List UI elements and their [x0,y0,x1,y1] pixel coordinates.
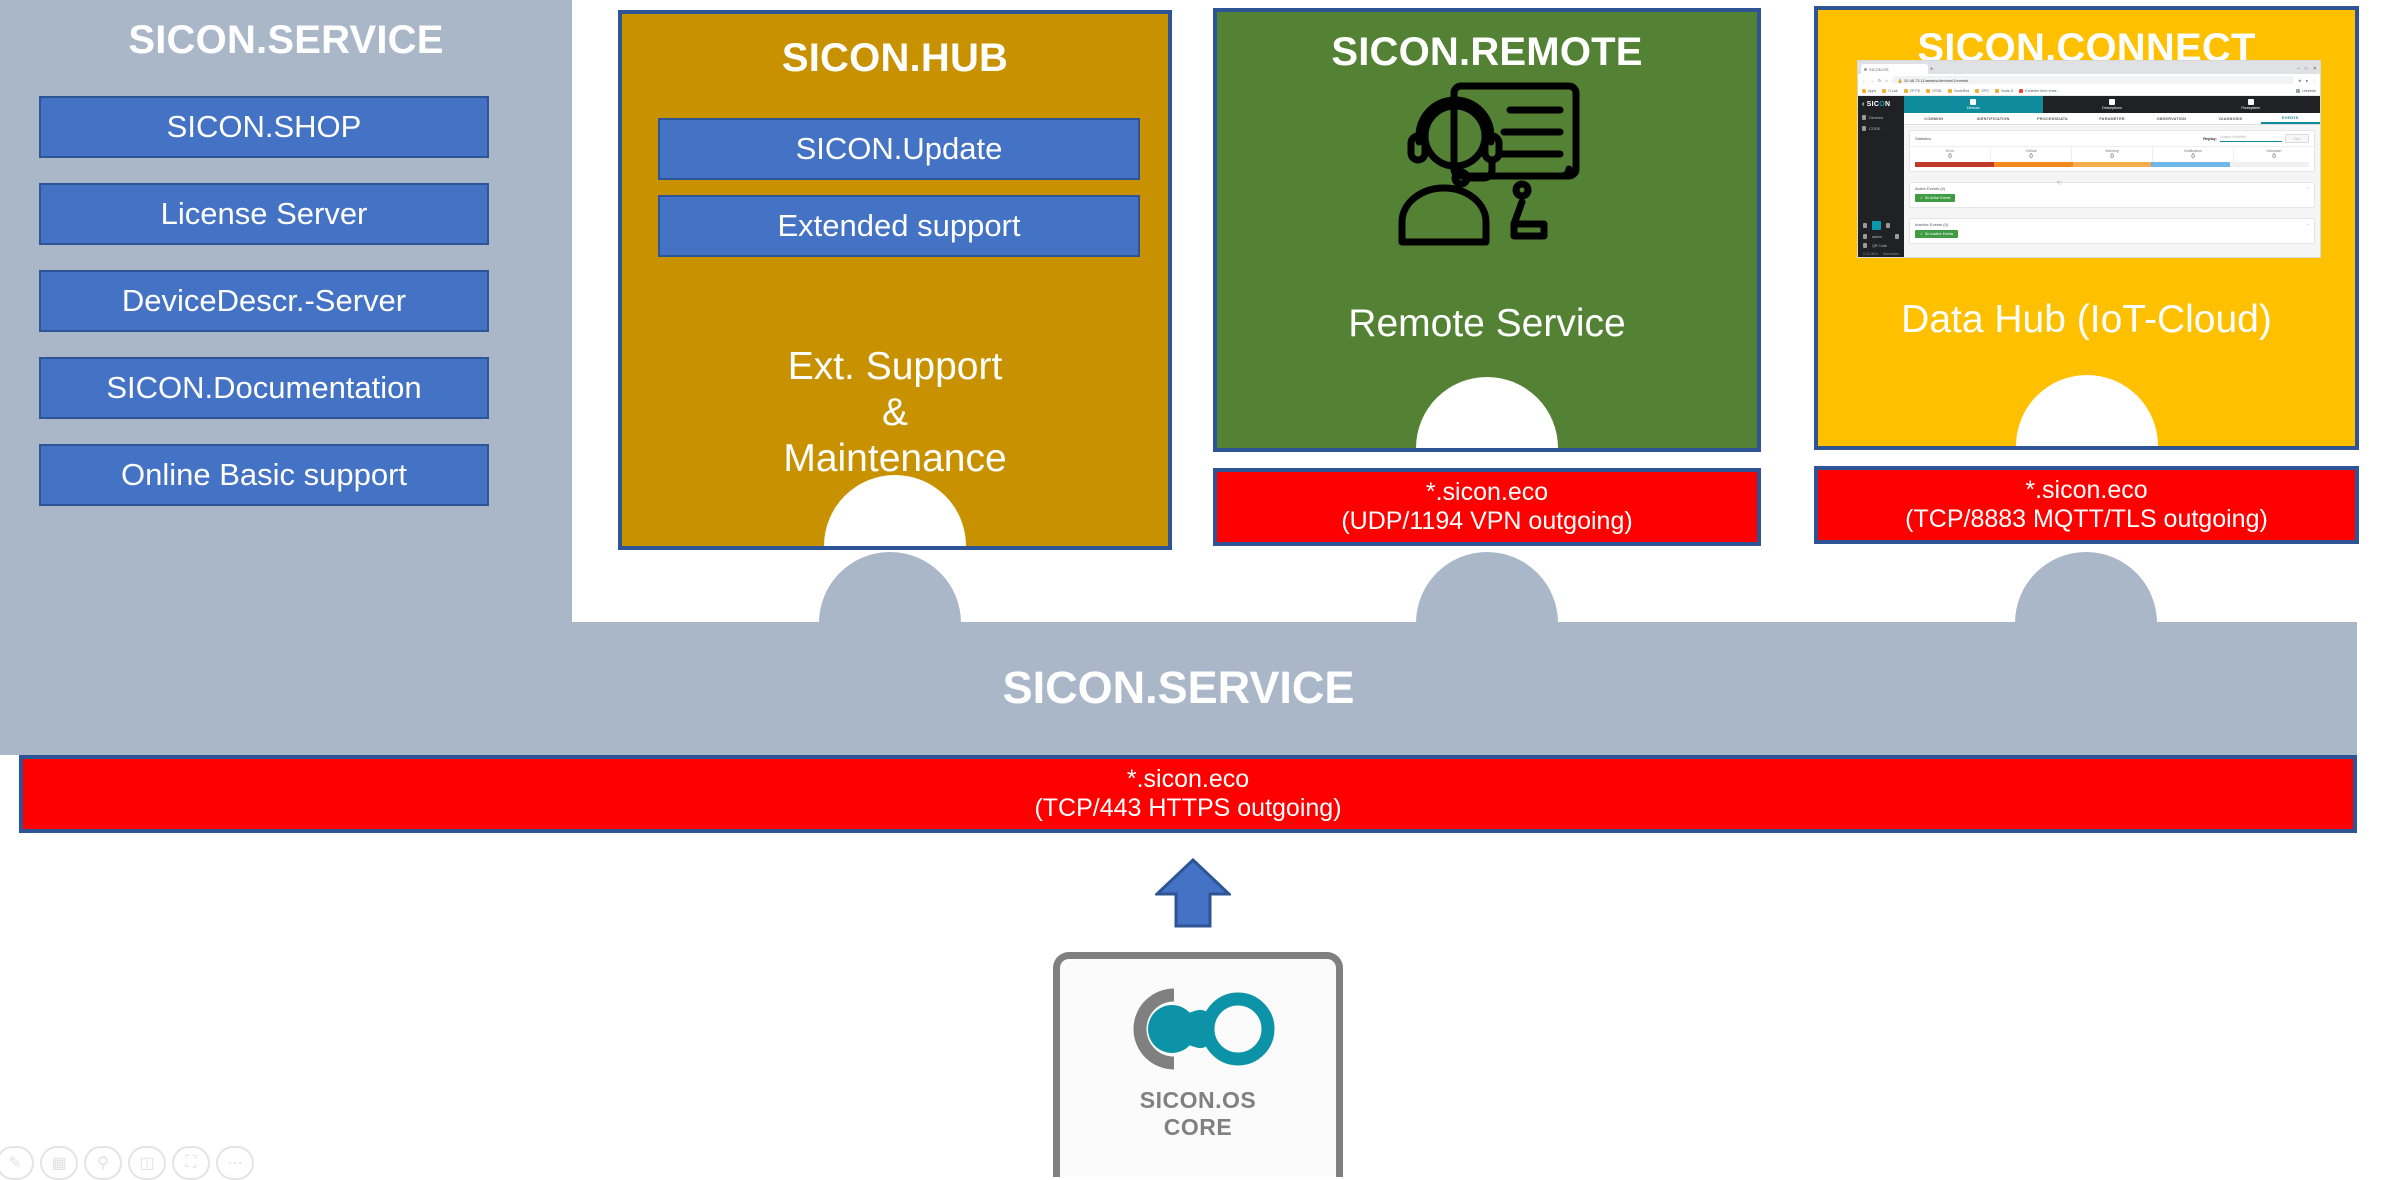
browser-tab[interactable]: SICON.OS [1861,64,1928,74]
forward-icon[interactable]: → [1870,78,1874,83]
connect-browser-screenshot: SICON.OS + – □ ✕ ← → ↻ ⌂ 🔒 10.48.73.11/a… [1857,60,2321,258]
sidebar-version-label: 0.21.38.0 [1863,252,1878,256]
remote-connector-bump [1416,552,1558,623]
bookmark-label: Apps [1868,89,1876,93]
service-item-shop[interactable]: SICON.SHOP [39,96,489,158]
browser-url-bar: ← → ↻ ⌂ 🔒 10.48.73.11/assets/devices/1/e… [1858,74,2320,86]
bar-segment-notification [2151,162,2230,167]
statistics-card-header: Statistics Replay: Unique Identifier Sta… [1910,131,2314,146]
service-connection-banner: *.sicon.eco (TCP/443 HTTPS outgoing) [19,755,2357,833]
device-icon [1862,115,1866,120]
bookmark-label: Node-S [2001,89,2013,93]
maximize-icon[interactable]: □ [2305,66,2308,72]
statistics-card: Statistics Replay: Unique Identifier Sta… [1909,130,2315,172]
camera-off-icon[interactable]: ⛶ [172,1146,210,1180]
presenter-icon[interactable]: ◫ [128,1146,166,1180]
tab-observation[interactable]: OBSERVATION [2142,113,2201,124]
topnav-item-descriptions[interactable]: Descriptions [2043,96,2182,113]
stat-label: Warning [2072,149,2152,153]
folder-icon [2019,89,2023,93]
remote-banner-host: *.sicon.eco [1426,478,1548,508]
reading-list-label: Leseliste [2302,89,2316,93]
connect-connector-bump [2015,552,2157,623]
hub-connector-bump [819,552,961,623]
service-item-devicedescr-server[interactable]: DeviceDescr.-Server [39,270,489,332]
connect-banner-port: (TCP/8883 MQTT/TLS outgoing) [1905,505,2268,535]
collapse-icon[interactable]: ‹ [1862,101,1865,108]
menu-icon[interactable]: ⋮ [2312,78,2316,83]
sidebar-footer: admin QR Code 0.21.38.0 Abmelden [1858,217,1904,258]
folder-icon [1975,89,1979,93]
connect-connector-notch [2016,375,2158,446]
diagram-canvas: SICON.SERVICE SICON.SHOP License Server … [0,0,2384,1177]
browser-bookmarks-bar: Apps S-Lab ZP PD HTML NodeRed OPC Node-S… [1858,86,2320,96]
bookmark-item[interactable]: S-Lab [1882,89,1898,93]
logout-icon[interactable] [1895,234,1899,239]
sidebar-user-label: admin [1872,235,1882,239]
active-events-badge-label: No Active Events [1925,196,1951,200]
inactive-events-card: Inactive Events (0) ^ ✓ No Inactive Even… [1909,218,2315,244]
sicon-os-core-label: SICON.OS CORE [1060,1087,1336,1141]
sidebar-qr-label: QR Code [1872,244,1887,248]
check-icon: ✓ [1920,196,1923,200]
bookmark-item[interactable]: HTML [1926,89,1942,93]
hub-connector-notch [824,475,966,546]
stat-value: 0 [1991,154,2071,160]
app-logo: ‹ SICON [1858,96,1904,112]
stat-label: Unknown [2234,149,2314,153]
hub-panel: SICON.HUB SICON.Update Extended support … [618,10,1172,550]
more-icon[interactable]: ⋯ [216,1146,254,1180]
replay-start-button[interactable]: Start [2285,134,2309,143]
sidebar-user-row[interactable]: admin [1860,232,1902,241]
sidebar-item-label: CODE [1869,126,1881,131]
browser-tab-title: SICON.OS [1869,67,1889,72]
connect-caption: Data Hub (IoT-Cloud) [1818,298,2355,342]
file-icon [1863,223,1867,228]
bookmark-label: ZP PD [1910,89,1921,93]
bookmark-label: Erstellen Ihrer erste... [2025,89,2059,93]
stat-notification: Notification 0 [2153,147,2234,162]
tab-diagnosis[interactable]: DIAGNOSIS [2201,113,2260,124]
hub-caption-line2: & [622,390,1168,436]
topnav-label: Descriptions [2102,106,2122,110]
window-controls[interactable]: – □ ✕ [2297,66,2317,74]
tab-favicon [1864,68,1867,71]
tab-parameter[interactable]: PARAMETER [2082,113,2141,124]
reading-list-icon [2296,89,2300,93]
sidebar-item-label: Devices [1869,115,1883,120]
bookmark-item[interactable]: Node-S [1995,89,2013,93]
close-icon[interactable]: ✕ [2313,66,2317,72]
inactive-events-badge-label: No Inactive Events [1925,232,1953,236]
stat-unknown: Unknown 0 [2234,147,2314,162]
arrow-up-icon [1155,858,1231,933]
sidebar-item-devices[interactable]: Devices [1858,112,1904,123]
chevron-up-icon[interactable]: ^ [2307,186,2309,191]
mouse-cursor-icon: ☜ [2056,179,2062,187]
bookmark-item[interactable]: Erstellen Ihrer erste... [2019,89,2059,93]
minimize-icon[interactable]: – [2297,66,2300,72]
stat-warning: Warning 0 [2072,147,2153,162]
bookmark-item[interactable]: ZP PD [1904,89,1921,93]
devices-icon [1970,99,1976,105]
stat-label: Notification [2153,149,2233,153]
sicon-os-core-device: SICON.OS CORE [1053,952,1343,1177]
url-input[interactable]: 🔒 10.48.73.11/assets/devices/1/events [1892,76,2294,84]
bar-segment-warning [2073,162,2152,167]
new-tab-button[interactable]: + [1930,67,1934,74]
topnav-item-flowsystem[interactable]: Flowsystem [2181,96,2320,113]
qr-code-icon [1863,243,1867,248]
folder-icon [1904,89,1908,93]
stat-value: 0 [2153,154,2233,160]
folder-icon [1926,89,1930,93]
replay-input[interactable]: Unique Identifier [2220,135,2282,142]
hub-item-update[interactable]: SICON.Update [658,118,1140,180]
descriptions-icon [2109,99,2115,105]
remote-panel: SICON.REMOTE [1213,8,1761,452]
reading-list-button[interactable]: Leseliste [2296,89,2316,93]
reload-icon[interactable]: ↻ [1878,78,1881,83]
service-item-documentation[interactable]: SICON.Documentation [39,357,489,419]
replay-label: Replay: [2203,137,2217,141]
inactive-events-badge: ✓ No Inactive Events [1915,230,1958,238]
sidebar-version-row: 0.21.38.0 Abmelden [1860,250,1902,258]
connect-panel: SICON.CONNECT SICON.OS + – □ ✕ ← → ↻ ⌂ [1814,6,2359,450]
bookmark-label: OPC [1981,89,1989,93]
remote-connector-notch [1416,377,1558,448]
hub-title: SICON.HUB [622,36,1168,81]
folder-icon [1862,89,1866,93]
app-main: Devices Descriptions Flowsystem COMMON [1904,96,2320,258]
core-label-line2: CORE [1060,1114,1336,1141]
tab-processdata[interactable]: PROCESSDATA [2023,113,2082,124]
bookmark-item[interactable]: NodeRed [1948,89,1969,93]
chevron-up-icon[interactable]: ^ [2307,222,2309,227]
lock-icon: 🔒 [1898,78,1903,83]
app-tabs: COMMON IDENTIFICATION PROCESSDATA PARAME… [1904,113,2320,125]
magnifier-icon[interactable]: ⚲ [84,1146,122,1180]
check-icon: ✓ [1920,232,1923,236]
app-top-nav: Devices Descriptions Flowsystem [1904,96,2320,113]
back-icon[interactable]: ← [1862,78,1866,83]
stat-value: 0 [1910,154,1990,160]
sidebar-logout-label[interactable]: Abmelden [1883,252,1899,256]
service-banner-port: (TCP/443 HTTPS outgoing) [1034,794,1341,824]
stat-error: Error 0 [1910,147,1991,162]
connect-banner-host: *.sicon.eco [2025,476,2147,506]
stat-value: 0 [2072,154,2152,160]
bar-segment-critical [1994,162,2073,167]
user-icon [1863,234,1867,239]
active-events-card: Active Events (0) ^ ✓ No Active Events [1909,182,2315,208]
remote-caption: Remote Service [1217,302,1757,346]
active-events-badge: ✓ No Active Events [1915,194,1955,202]
service-column-panel: SICON.SERVICE SICON.SHOP License Server … [0,0,572,625]
active-events-header: Active Events (0) ^ [1910,183,2314,194]
service-banner-host: *.sicon.eco [1127,765,1249,795]
brand-text: SICON [1867,101,1891,108]
bookmark-item[interactable]: Apps [1862,89,1876,93]
service-platform-label: SICON.SERVICE [0,662,2357,714]
sicon-os-infinity-logo [1110,975,1286,1088]
hub-caption: Ext. Support & Maintenance [622,344,1168,482]
tab-identification[interactable]: IDENTIFICATION [1963,113,2022,124]
headset-support-icon [1382,74,1592,259]
remote-banner-port: (UDP/1194 VPN outgoing) [1341,507,1632,537]
profile-icon[interactable]: ● [2306,78,2308,83]
stat-value: 0 [2234,154,2314,160]
sidebar-item-code[interactable]: CODE [1858,123,1904,134]
board-icon[interactable] [1872,221,1881,230]
statistics-title: Statistics [1915,136,1931,141]
service-platform-band: SICON.SERVICE [0,622,2357,755]
replay-controls: Replay: Unique Identifier Start [2203,134,2309,143]
statistics-color-bar [1915,162,2309,167]
topnav-label: Flowsystem [2241,106,2260,110]
service-column-title: SICON.SERVICE [0,18,572,63]
folder-icon [1995,89,1999,93]
bar-segment-error [1915,162,1994,167]
stat-label: Error [1910,149,1990,153]
folder-icon [1882,89,1886,93]
presentation-toolbar: ✎ ▦ ⚲ ◫ ⛶ ⋯ [0,1146,254,1180]
stat-label: Critical [1991,149,2071,153]
statistics-row: Error 0 Critical 0 Warning 0 [1910,146,2314,162]
active-events-title: Active Events (0) [1915,186,1945,191]
core-label-line1: SICON.OS [1060,1087,1336,1114]
service-item-online-basic-support[interactable]: Online Basic support [39,444,489,506]
topnav-item-devices[interactable]: Devices [1904,96,2043,113]
bookmark-label: NodeRed [1954,89,1969,93]
remote-title: SICON.REMOTE [1217,30,1757,75]
gear-icon[interactable] [1886,223,1890,228]
remote-connection-banner: *.sicon.eco (UDP/1194 VPN outgoing) [1213,468,1761,546]
service-item-license-server[interactable]: License Server [39,183,489,245]
browser-tab-strip: SICON.OS + – □ ✕ [1858,61,2320,74]
stat-critical: Critical 0 [1991,147,2072,162]
app-sidebar: ‹ SICON Devices CODE [1858,96,1904,258]
tab-common[interactable]: COMMON [1904,113,1963,124]
bar-segment-unknown [2230,162,2309,167]
hub-caption-line1: Ext. Support [622,344,1168,390]
topnav-label: Devices [1967,106,1980,110]
inactive-events-header: Inactive Events (0) ^ [1910,219,2314,230]
url-text: 10.48.73.11/assets/devices/1/events [1904,78,1968,83]
sidebar-qr-row[interactable]: QR Code [1860,241,1902,250]
layout-icon[interactable]: ▦ [40,1146,78,1180]
bookmark-item[interactable]: OPC [1975,89,1989,93]
code-icon [1862,126,1866,131]
tab-events[interactable]: EVENTS [2261,113,2320,124]
hub-item-extended-support[interactable]: Extended support [658,195,1140,257]
home-icon[interactable]: ⌂ [1885,78,1887,83]
sidebar-tools-row[interactable] [1860,219,1902,232]
bookmark-label: HTML [1932,89,1942,93]
connect-connection-banner: *.sicon.eco (TCP/8883 MQTT/TLS outgoing) [1814,466,2359,544]
pen-icon[interactable]: ✎ [0,1146,34,1180]
flowsystem-icon [2248,99,2254,105]
app-body: ‹ SICON Devices CODE [1858,96,2320,258]
bookmark-label: S-Lab [1888,89,1898,93]
extensions-icon[interactable]: ★ [2298,78,2302,83]
inactive-events-title: Inactive Events (0) [1915,222,1948,227]
folder-icon [1948,89,1952,93]
